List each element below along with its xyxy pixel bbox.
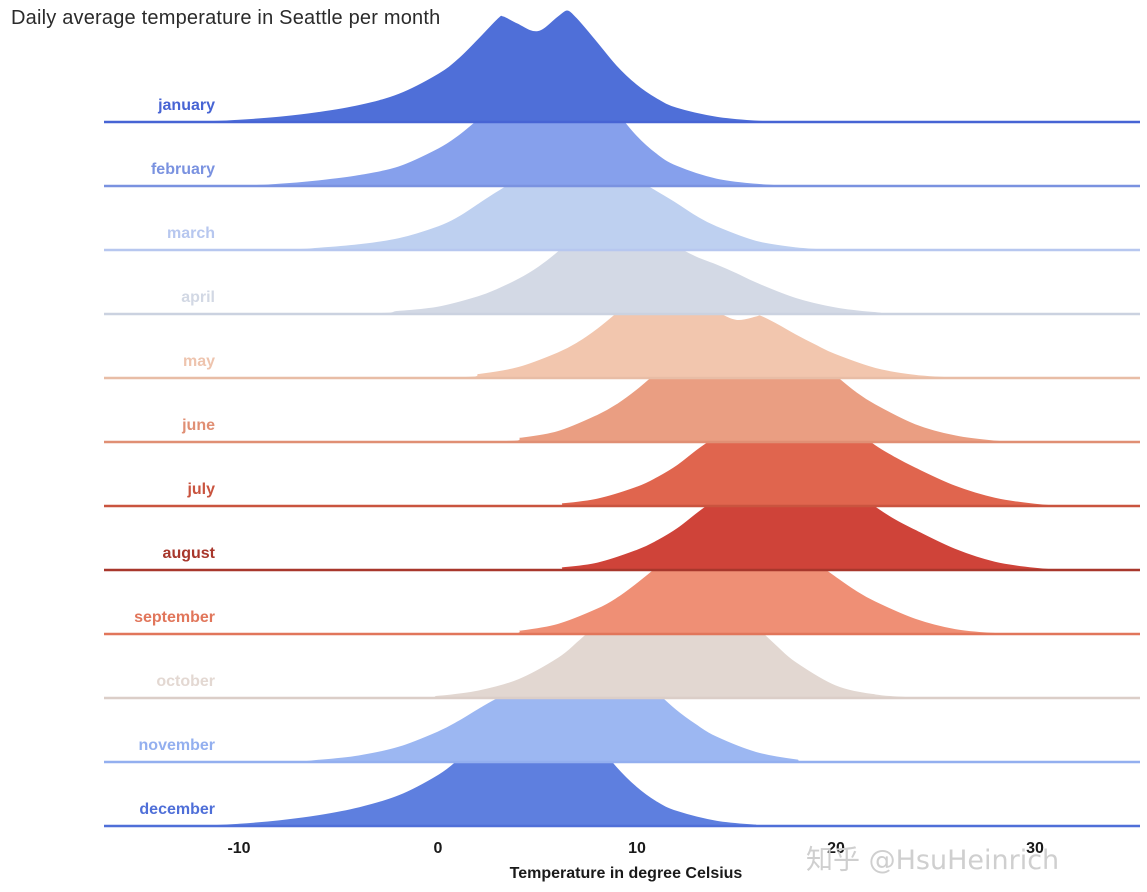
ridge-label-august: august: [163, 545, 216, 562]
x-tick--10: -10: [227, 840, 250, 857]
ridge-label-january: january: [157, 97, 215, 114]
x-axis-title: Temperature in degree Celsius: [510, 865, 743, 882]
ridge-label-september: september: [134, 609, 215, 626]
ridge-label-june: june: [181, 417, 215, 434]
ridge-area-january: [104, 9, 1140, 122]
ridge-label-december: december: [139, 801, 215, 818]
ridgeline-chart: januaryfebruarymarchaprilmayjunejulyaugu…: [0, 0, 1147, 892]
ridge-label-july: july: [186, 481, 215, 498]
ridge-label-february: february: [151, 161, 215, 178]
x-axis-group: -100102030Temperature in degree Celsius: [227, 840, 1044, 882]
ridge-label-october: october: [156, 673, 215, 690]
ridge-label-may: may: [183, 353, 215, 370]
x-tick-0: 0: [434, 840, 443, 857]
x-tick-30: 30: [1026, 840, 1044, 857]
ridge-label-march: march: [167, 225, 215, 242]
ridge-area-september: [104, 516, 1140, 634]
ridge-september: [104, 516, 1140, 634]
ridge-january: [104, 9, 1140, 122]
ridge-label-april: april: [181, 289, 215, 306]
ridge-labels-group: januaryfebruarymarchaprilmayjunejulyaugu…: [134, 97, 216, 818]
ridge-series-group: [104, 9, 1140, 826]
x-tick-20: 20: [827, 840, 845, 857]
x-tick-10: 10: [628, 840, 646, 857]
ridge-label-november: november: [139, 737, 215, 754]
